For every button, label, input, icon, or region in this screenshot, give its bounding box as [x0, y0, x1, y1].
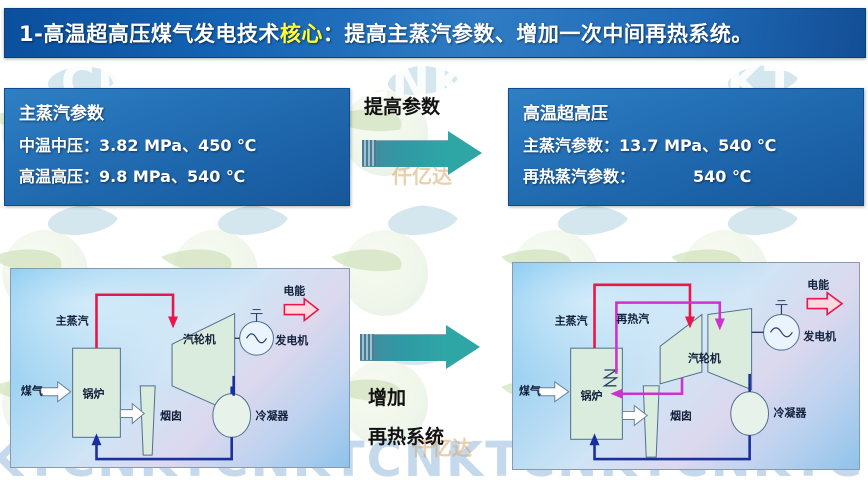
gas-inlet-arrow-icon	[41, 382, 71, 402]
panel-uhp-params: 高温超高压 主蒸汽参数：13.7 MPa、540 ℃ 再热蒸汽参数：540 ℃	[508, 88, 864, 206]
panel-right-heading: 高温超高压	[523, 99, 851, 124]
label-condenser: 冷凝器	[256, 409, 290, 423]
label-gas-in: 煤气	[519, 384, 541, 398]
lp-turbine-shape	[708, 309, 752, 390]
upgrade-params-label: 提高参数	[364, 92, 440, 119]
power-output-arrow-icon	[807, 293, 842, 315]
add-reheat-line-2: 再热系统	[368, 422, 508, 449]
label-power: 电能	[807, 278, 829, 292]
feed-water-pipe	[96, 437, 231, 459]
diagram-reheat-system: 煤气 锅炉 主蒸汽 再热汽 汽轮机 发电机 电能 烟囱 冷凝器	[512, 262, 860, 470]
upgrade-params-callout: 提高参数	[358, 92, 504, 208]
add-reheat-callout: 增加 再热系统	[358, 325, 508, 455]
chimney-shape	[643, 386, 659, 457]
diagram-right-svg: 煤气 锅炉 主蒸汽 再热汽 汽轮机 发电机 电能 烟囱 冷凝器	[513, 263, 859, 469]
label-condenser: 冷凝器	[773, 406, 807, 420]
label-reheat-steam: 再热汽	[616, 311, 649, 325]
gas-inlet-arrow-icon	[539, 382, 569, 402]
panel-right-row-2: 再热蒸汽参数：540 ℃	[523, 163, 851, 187]
label-boiler: 锅炉	[83, 387, 105, 401]
right-arrow-icon	[362, 131, 490, 175]
panel-left-row-1-value: 3.82 MPa、450 ℃	[99, 136, 256, 155]
panel-left-row-1-label: 中温中压：	[19, 136, 99, 155]
panel-left-heading: 主蒸汽参数	[19, 99, 337, 124]
label-main-steam: 主蒸汽	[56, 313, 89, 327]
label-chimney: 烟囱	[670, 409, 692, 423]
panel-left-row-2-value: 9.8 MPa、540 ℃	[99, 167, 245, 186]
panel-left-row-2-label: 高温高压：	[19, 167, 99, 186]
panel-right-row-2-value: 540 ℃	[693, 167, 751, 186]
label-gas-in: 煤气	[21, 384, 43, 398]
slide-title-bar: 1-高温超高压煤气发电技术核心：提高主蒸汽参数、增加一次中间再热系统。	[4, 8, 866, 58]
main-steam-pipe	[96, 295, 173, 348]
right-arrow-icon	[360, 325, 488, 369]
condenser-shape	[213, 394, 251, 438]
label-main-steam: 主蒸汽	[555, 313, 588, 327]
title-suffix: ：提高主蒸汽参数、增加一次中间再热系统。	[323, 22, 753, 46]
slide-canvas: KTCNKTCNKTCNKTCNKTCNKTCN KTCNKTCNKTCNKTC…	[0, 0, 868, 480]
hp-turbine-shape	[660, 315, 702, 384]
page-title: 1-高温超高压煤气发电技术核心：提高主蒸汽参数、增加一次中间再热系统。	[5, 18, 753, 48]
panel-right-row-2-label: 再热蒸汽参数：	[523, 167, 635, 186]
panel-main-steam-params: 主蒸汽参数 中温中压：3.82 MPa、450 ℃ 高温高压：9.8 MPa、5…	[4, 88, 350, 206]
main-steam-arrow	[168, 317, 178, 329]
label-turbine: 汽轮机	[688, 351, 721, 365]
title-prefix: 1-高温超高压煤气发电技术	[19, 22, 280, 46]
chimney-shape	[140, 386, 155, 455]
diagram-left-svg: 煤气 锅炉 主蒸汽 汽轮机 发电机 电能 烟囱 冷凝器	[11, 269, 349, 467]
panel-left-row-1: 中温中压：3.82 MPa、450 ℃	[19, 132, 337, 156]
panel-right-row-1: 主蒸汽参数：13.7 MPa、540 ℃	[523, 132, 851, 156]
add-reheat-line-1: 增加	[368, 383, 508, 410]
diagram-conventional-system: 煤气 锅炉 主蒸汽 汽轮机 发电机 电能 烟囱 冷凝器	[10, 268, 350, 468]
label-generator: 发电机	[274, 333, 308, 347]
label-chimney: 烟囱	[160, 409, 182, 423]
label-boiler: 锅炉	[581, 389, 603, 403]
panel-left-row-2: 高温高压：9.8 MPa、540 ℃	[19, 163, 337, 187]
panel-right-row-1-value: 13.7 MPa、540 ℃	[619, 136, 776, 155]
power-output-arrow-icon	[284, 299, 318, 321]
label-generator: 发电机	[802, 329, 836, 343]
label-turbine: 汽轮机	[183, 332, 216, 346]
panel-right-row-1-label: 主蒸汽参数：	[523, 136, 619, 155]
title-highlight: 核心	[280, 22, 323, 46]
label-power: 电能	[283, 284, 305, 298]
flue-gas-arrow-icon	[622, 406, 647, 426]
condenser-shape	[731, 392, 769, 436]
